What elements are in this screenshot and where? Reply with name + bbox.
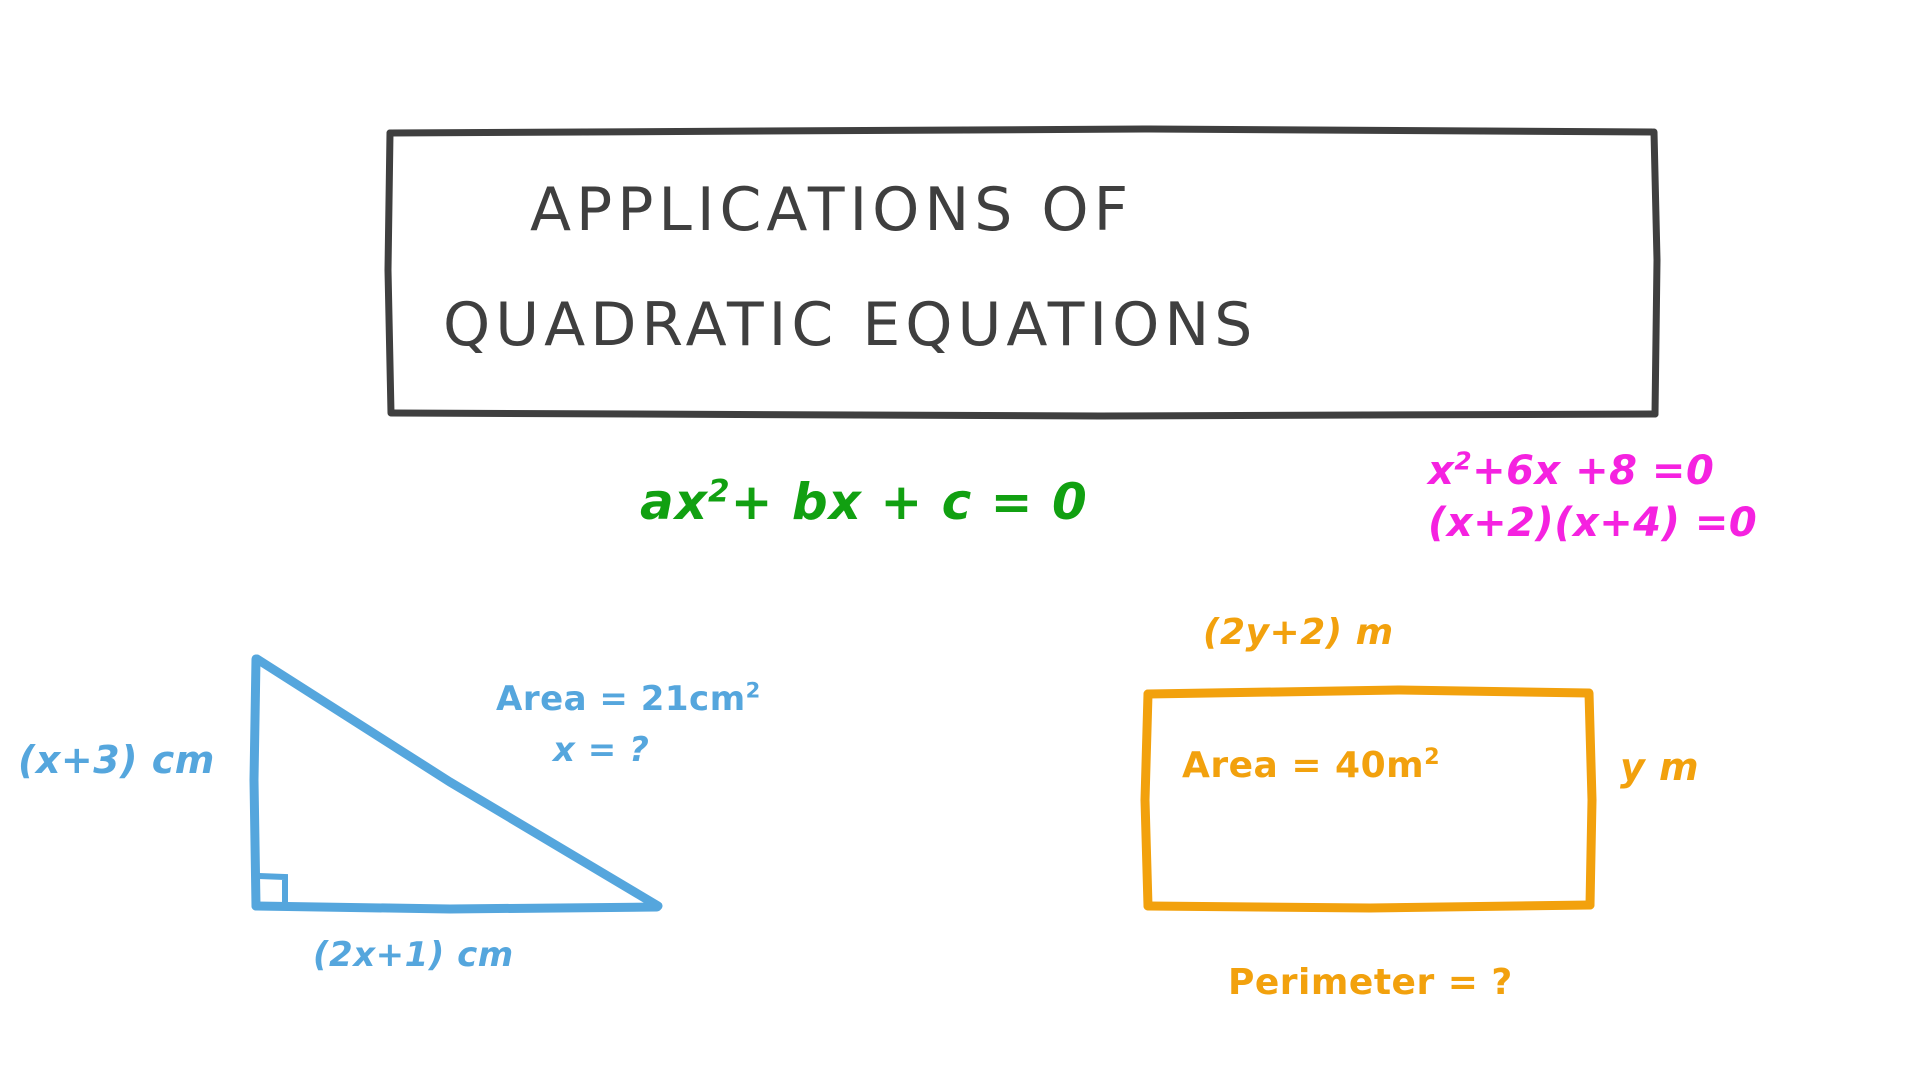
triangle-area-exponent: 2 (746, 678, 761, 703)
triangle-unknown-label: x = ? (553, 730, 649, 770)
rectangle-perimeter-label: Perimeter = ? (1228, 962, 1513, 1003)
rectangle-side-label: y m (1620, 745, 1699, 789)
rectangle-shape (1145, 690, 1592, 908)
example-exponent: 2 (1454, 447, 1472, 476)
rectangle-area-label: Area = 40m2 (1182, 745, 1440, 786)
right-angle-icon (259, 876, 285, 905)
example-base: x (1428, 448, 1454, 494)
rectangle-top-label: (2y+2) m (1203, 612, 1394, 653)
triangle-height-label: (x+3) cm (18, 738, 215, 782)
general-form-rest: + bx + c = 0 (731, 473, 1088, 531)
rectangle-area-exponent: 2 (1424, 744, 1440, 770)
example-rest: +6x +8 =0 (1472, 448, 1714, 494)
title-line-2: QUADRATIC EQUATIONS (443, 290, 1257, 360)
quadratic-general-form: ax2+ bx + c = 0 (640, 473, 1088, 531)
title-line-1: APPLICATIONS OF (530, 175, 1133, 245)
example-equation-expanded: x2+6x +8 =0 (1428, 448, 1714, 494)
triangle-base-label: (2x+1) cm (313, 935, 514, 975)
rectangle-area-text: Area = 40m (1182, 745, 1424, 786)
general-form-exponent: 2 (708, 473, 731, 509)
title-box-border (388, 129, 1657, 416)
triangle-area-label: Area = 21cm2 (496, 679, 761, 719)
triangle-area-text: Area = 21cm (496, 679, 746, 719)
general-form-base: ax (640, 473, 708, 531)
example-equation-factorised: (x+2)(x+4) =0 (1428, 500, 1757, 546)
